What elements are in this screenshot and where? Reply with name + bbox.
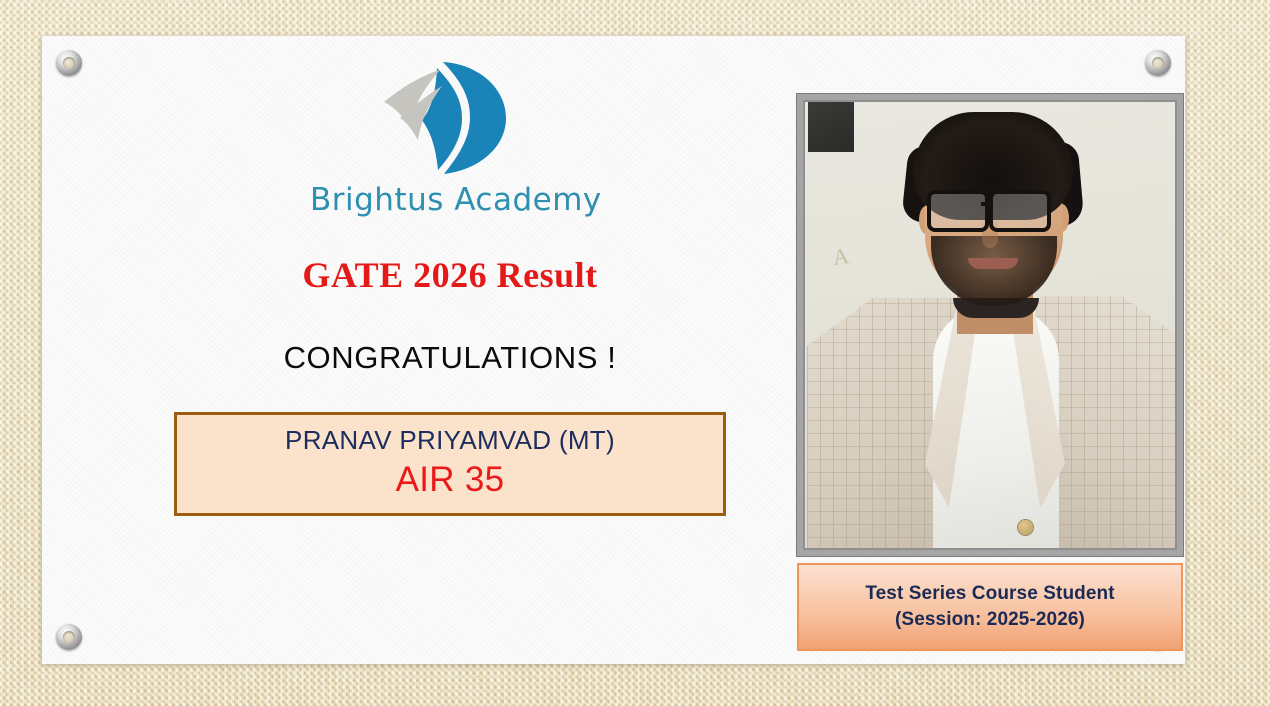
student-photo: A xyxy=(805,102,1175,548)
student-result-box: PRANAV PRIYAMVAD (MT) AIR 35 xyxy=(174,412,726,516)
congratulations-text: CONGRATULATIONS ! xyxy=(160,340,740,376)
glasses-left-lens xyxy=(927,190,989,232)
left-content-column: Brightus Academy GATE 2026 Result CONGRA… xyxy=(160,58,740,516)
caption-line-1: Test Series Course Student xyxy=(865,581,1114,607)
banner-panel: Brightus Academy GATE 2026 Result CONGRA… xyxy=(42,36,1185,664)
glasses-bridge xyxy=(981,202,993,206)
student-rank: AIR 35 xyxy=(183,461,717,500)
glasses-right-lens xyxy=(989,190,1051,232)
mouth xyxy=(968,258,1018,269)
grommet-top-right-icon xyxy=(1145,50,1171,76)
right-content-column: A xyxy=(797,94,1189,651)
brand-logo-block: Brightus Academy xyxy=(310,58,590,218)
caption-line-2: (Session: 2025-2026) xyxy=(895,607,1085,633)
grommet-top-left-icon xyxy=(56,50,82,76)
photo-caption-box: Test Series Course Student (Session: 202… xyxy=(797,563,1183,651)
grommet-bottom-left-icon xyxy=(56,624,82,650)
brightus-swoosh-logo-icon xyxy=(374,58,526,176)
brand-wordmark: Brightus Academy xyxy=(310,182,590,218)
background-wall-board xyxy=(808,102,854,152)
page-title: GATE 2026 Result xyxy=(160,254,740,296)
student-photo-frame: A xyxy=(797,94,1183,556)
jacket-button xyxy=(1018,520,1033,535)
student-name: PRANAV PRIYAMVAD (MT) xyxy=(183,426,717,455)
background-wall-mark: A xyxy=(831,243,850,271)
slide-canvas: Brightus Academy GATE 2026 Result CONGRA… xyxy=(0,0,1270,706)
